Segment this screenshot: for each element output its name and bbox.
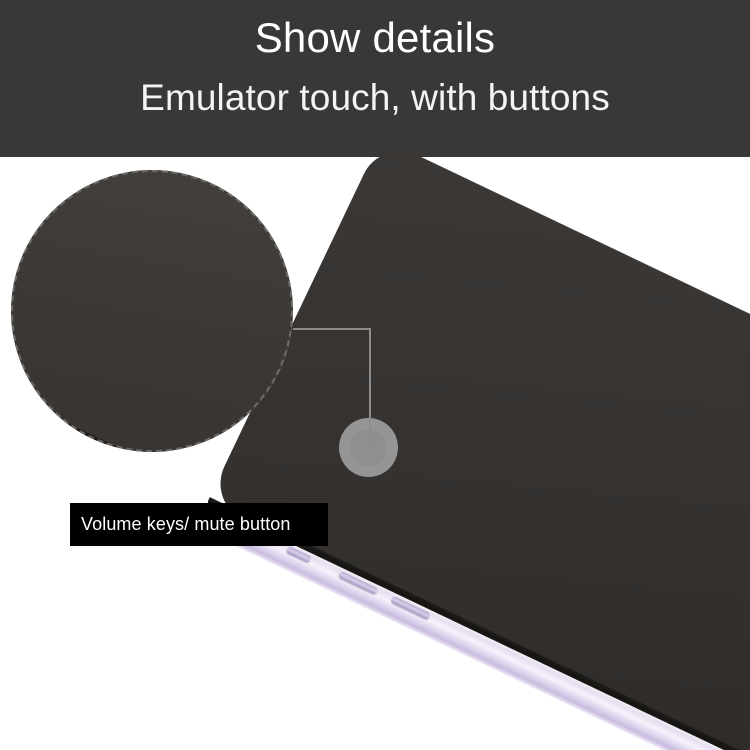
magnifier-callout	[11, 170, 293, 452]
product-detail-image: Volume keys/ mute button Show details Em…	[0, 0, 750, 750]
magnified-phone-screen	[11, 170, 293, 452]
page-subtitle: Emulator touch, with buttons	[0, 75, 750, 121]
caption-label: Volume keys/ mute button	[70, 503, 328, 546]
caption-label-text: Volume keys/ mute button	[70, 514, 291, 535]
page-title: Show details	[0, 12, 750, 64]
header-banner: Show details Emulator touch, with button…	[0, 0, 750, 157]
magnified-device-edge	[11, 170, 293, 452]
leader-line-vertical	[369, 328, 371, 449]
leader-line-horizontal	[293, 328, 371, 330]
